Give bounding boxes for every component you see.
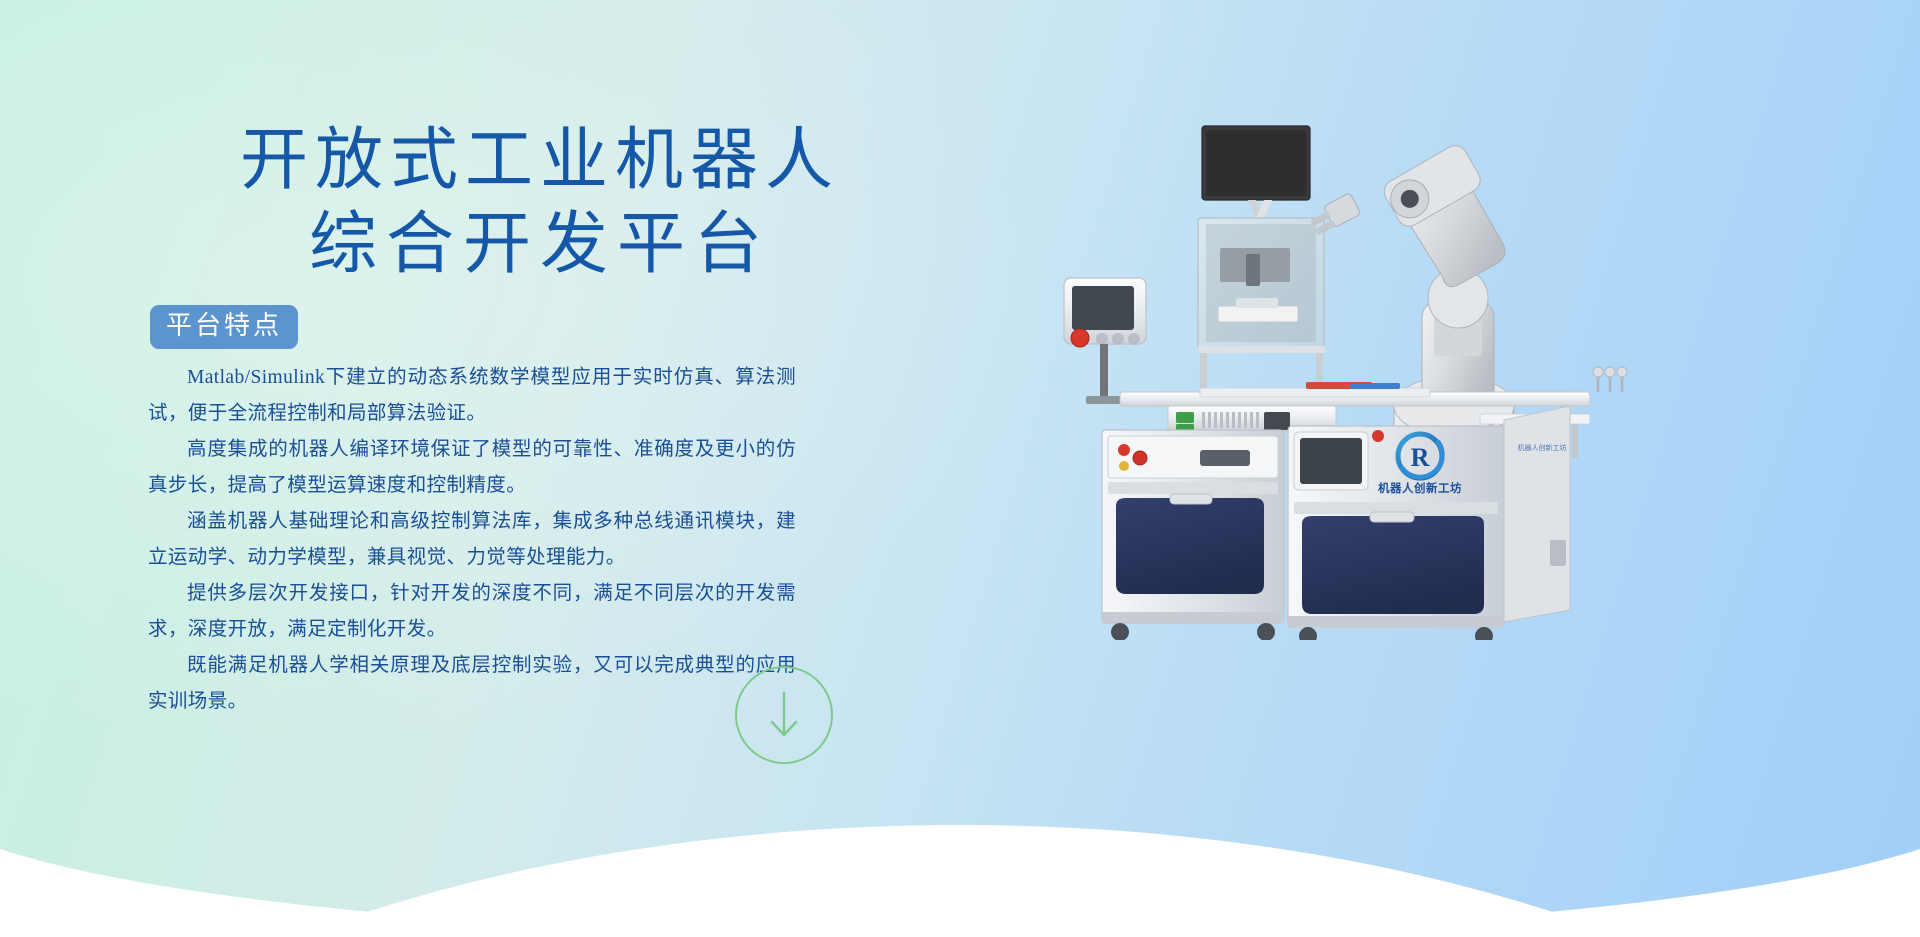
product-photo: R 机器人创新工坊 机器人创新工坊 (1050, 120, 1670, 640)
feature-paragraph: Matlab/Simulink下建立的动态系统数学模型应用于实时仿真、算法测试，… (148, 360, 796, 432)
svg-text:机器人创新工坊: 机器人创新工坊 (1518, 443, 1567, 452)
feature-paragraph: 高度集成的机器人编译环境保证了模型的可靠性、准确度及更小的仿真步长，提高了模型运… (148, 432, 796, 504)
feature-paragraph: 涵盖机器人基础理论和高级控制算法库，集成多种总线通讯模块，建立运动学、动力学模型… (148, 504, 796, 576)
enclosure-module (1198, 218, 1325, 388)
left-cabinet (1102, 430, 1284, 640)
hero-banner: 开放式工业机器人 综合开发平台 平台特点 Matlab/Simulink下建立的… (0, 0, 1920, 937)
section-badge: 平台特点 (150, 305, 298, 349)
scroll-down-button[interactable] (735, 666, 833, 764)
side-panel: 机器人创新工坊 (1504, 406, 1570, 622)
page-title: 开放式工业机器人 综合开发平台 (150, 118, 930, 286)
title-line-1: 开放式工业机器人 (150, 118, 930, 202)
svg-text:R: R (1411, 443, 1430, 472)
title-line-2: 综合开发平台 (150, 202, 930, 286)
feature-paragraph: 提供多层次开发接口，针对开发的深度不同，满足不同层次的开发需求，深度开放，满足定… (148, 576, 796, 648)
feature-paragraph-list: Matlab/Simulink下建立的动态系统数学模型应用于实时仿真、算法测试，… (148, 360, 796, 720)
text-column: 开放式工业机器人 综合开发平台 平台特点 Matlab/Simulink下建立的… (0, 0, 1040, 937)
right-cabinet: R 机器人创新工坊 (1288, 426, 1504, 640)
hmi-pendant (1064, 278, 1146, 404)
svg-text:机器人创新工坊: 机器人创新工坊 (1378, 481, 1462, 495)
overhead-monitor (1202, 126, 1310, 218)
feature-paragraph: 既能满足机器人学相关原理及底层控制实验，又可以完成典型的应用实训场景。 (148, 648, 796, 720)
arrow-down-icon (764, 689, 804, 741)
